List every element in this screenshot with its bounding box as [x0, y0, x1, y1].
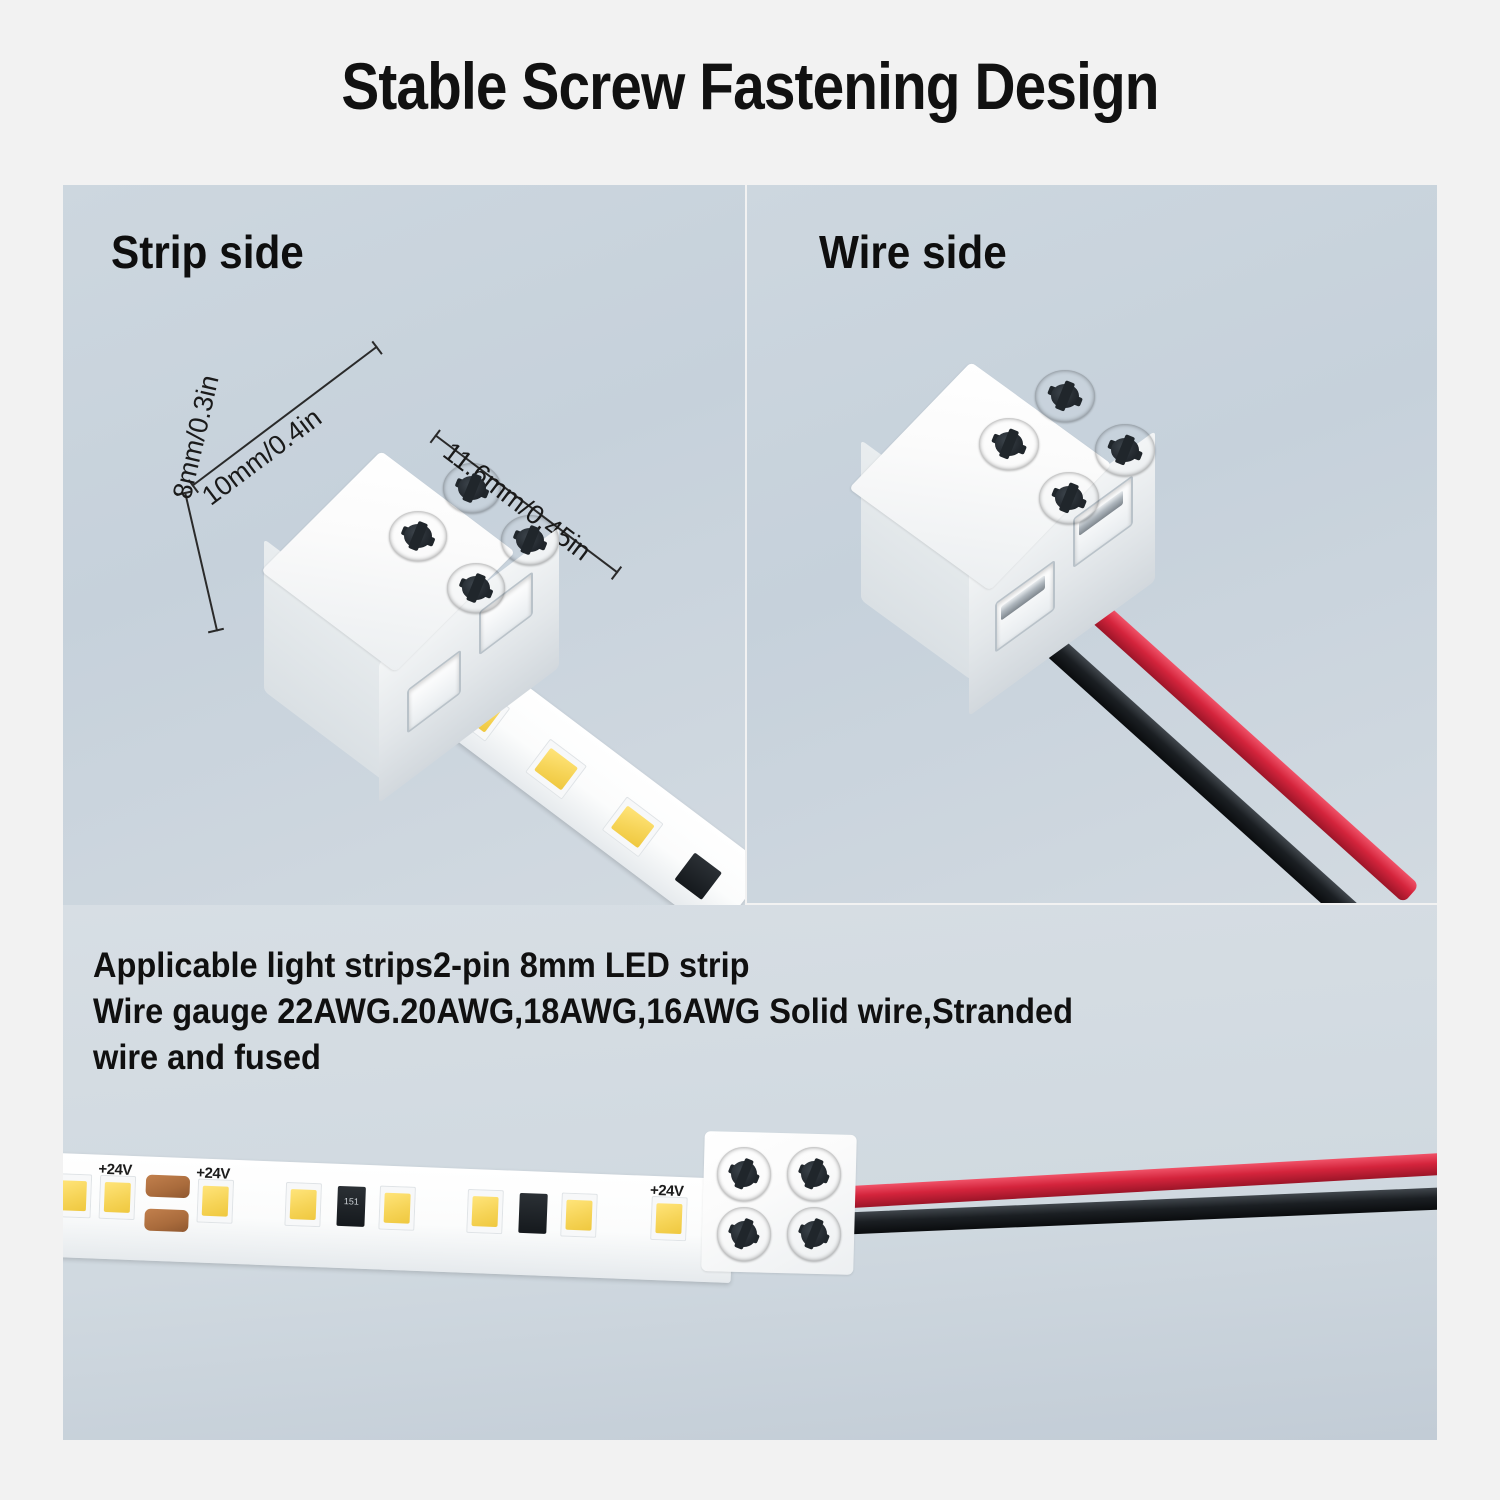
led-chip	[284, 1182, 322, 1227]
strip-resistor: 151	[336, 1186, 366, 1227]
page-title: Stable Screw Fastening Design	[105, 48, 1395, 124]
copper-pad	[145, 1175, 190, 1199]
screw-terminal[interactable]	[1035, 370, 1095, 422]
led-chip	[560, 1192, 598, 1237]
screw-terminal[interactable]	[443, 463, 501, 513]
led-chip	[63, 1173, 92, 1218]
copper-pad	[144, 1208, 189, 1232]
screw-terminal[interactable]	[979, 418, 1039, 470]
wire-slot	[407, 649, 461, 734]
spec-line-1: Applicable light strips2-pin 8mm LED str…	[93, 943, 1237, 989]
led-chip	[650, 1196, 688, 1241]
led-strip-assembly: +24V +24V 151 +24V	[63, 1153, 734, 1299]
led-chip	[466, 1189, 504, 1234]
screw-terminal[interactable]	[501, 515, 559, 565]
spec-line-2: Wire gauge 22AWG.20AWG,18AWG,16AWG Solid…	[93, 989, 1237, 1035]
specification-text: Applicable light strips2-pin 8mm LED str…	[93, 943, 1237, 1082]
led-chip	[378, 1185, 416, 1230]
strip-resistor	[518, 1193, 548, 1234]
screw-terminal[interactable]	[787, 1207, 841, 1261]
screw-terminal[interactable]	[1095, 424, 1155, 476]
panel-label-wire-side: Wire side	[819, 225, 1007, 279]
photo-strip-side: Strip side 10mm/0.4in 11.6mm/0.45in 8mm/…	[63, 185, 745, 905]
screw-terminal[interactable]	[389, 511, 447, 561]
resistor-code-label: 151	[337, 1196, 365, 1207]
screw-terminal[interactable]	[787, 1147, 841, 1201]
screw-connector-strip-side	[259, 447, 619, 767]
screw-terminal[interactable]	[717, 1207, 771, 1261]
photo-wire-side: Wire side	[747, 185, 1437, 903]
photo-assembly: Applicable light strips2-pin 8mm LED str…	[63, 905, 1437, 1440]
screw-connector-wire-side	[857, 360, 1217, 680]
dimension-line-height	[184, 492, 218, 632]
spec-line-3: wire and fused	[93, 1035, 1237, 1081]
screw-connector-assembly	[703, 1133, 883, 1298]
product-infographic: Stable Screw Fastening Design Strip side…	[0, 0, 1500, 1500]
led-chip	[196, 1179, 234, 1224]
screw-terminal[interactable]	[447, 563, 505, 613]
led-chip	[99, 1175, 137, 1220]
panel-label-strip-side: Strip side	[111, 225, 304, 279]
screw-terminal[interactable]	[1039, 472, 1099, 524]
screw-terminal[interactable]	[717, 1147, 771, 1201]
